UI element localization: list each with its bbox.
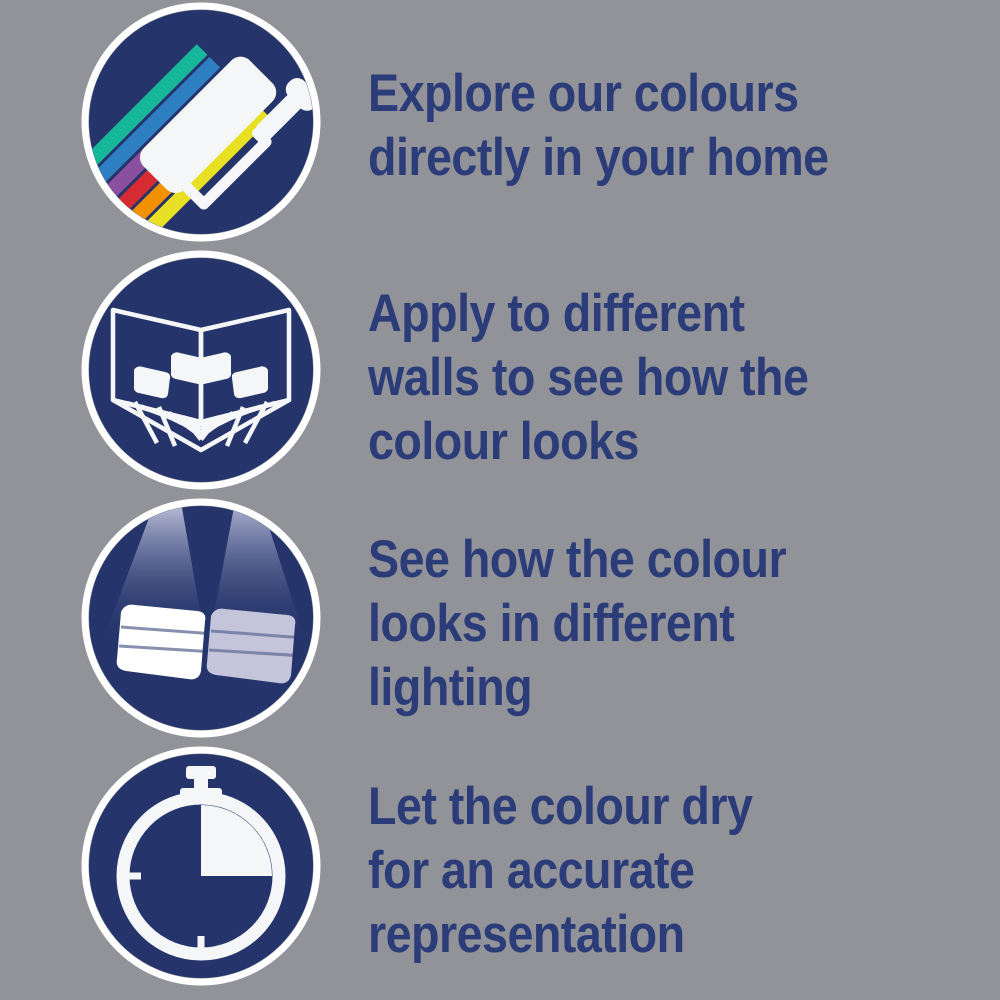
step-1-caption: Explore our colours directly in your hom…: [368, 62, 834, 190]
step-2-caption: Apply to different walls to see how the …: [368, 282, 834, 474]
infographic-board: Explore our colours directly in your hom…: [0, 0, 1000, 1000]
step-4-caption: Let the colour dry for an accurate repre…: [368, 775, 834, 967]
step-2-icon: [83, 252, 319, 488]
step-4-icon: [83, 748, 319, 984]
stopwatch-icon: [83, 748, 319, 984]
step-3-caption: See how the colour looks in different li…: [368, 528, 834, 720]
room-walls-swatches-icon: [83, 252, 319, 488]
paint-roller-rainbow-icon: [83, 4, 319, 240]
step-1-icon: [83, 4, 319, 240]
step-3-icon: [83, 500, 319, 736]
lighting-swatches-icon: [83, 500, 319, 736]
